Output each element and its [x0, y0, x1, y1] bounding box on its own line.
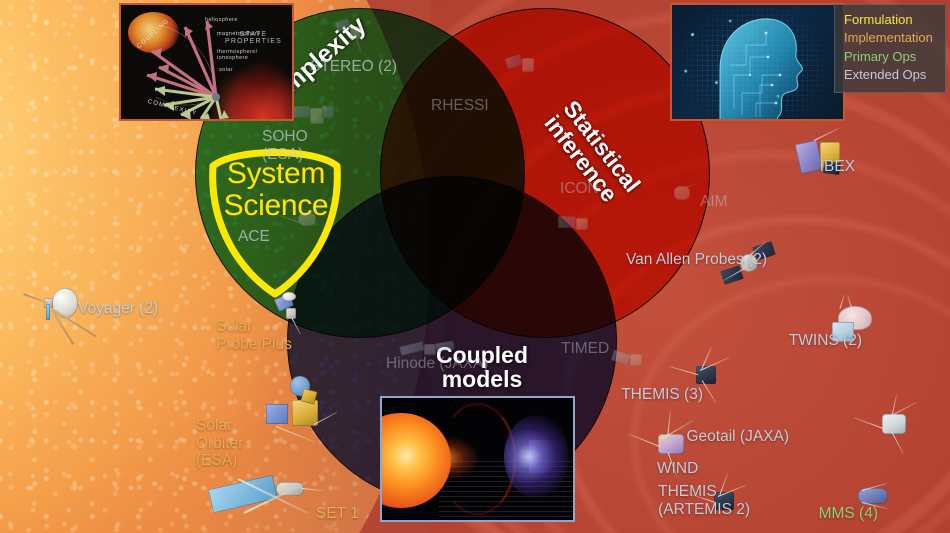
inset-node-ionosphere: thermosphere/ionosphere: [217, 49, 258, 61]
mission-label-themis: THEMIS (3): [621, 386, 703, 404]
mission-label-van-allen-probes: Van Allen Probes (2): [626, 251, 767, 269]
satellite-set-1: [210, 470, 322, 526]
satellite-ace: [282, 200, 330, 244]
mission-label-wind: WIND: [657, 460, 698, 478]
mission-label-themis-artemis: THEMIS (ARTEMIS 2): [658, 483, 750, 518]
mission-label-mms: MMS (4): [819, 505, 878, 523]
legend-item-primary-ops: Primary Ops: [844, 48, 938, 66]
inset-ai-digital-head: [670, 3, 845, 121]
mission-label-rhessi: RHESSI: [431, 97, 489, 115]
earth-magnetosphere: [504, 415, 569, 498]
mission-label-set-1: SET 1: [316, 505, 359, 523]
infographic-canvas: System Science Complexity Statistical in…: [0, 0, 950, 533]
legend-item-formulation: Formulation: [844, 11, 938, 29]
satellite-icon: [556, 206, 596, 246]
mission-label-voyager: Voyager (2): [78, 300, 158, 318]
satellite-timed: [610, 340, 652, 382]
system-science-label: System Science: [196, 158, 356, 221]
mission-label-geotail: Geotail (JAXA): [686, 428, 789, 446]
mission-label-twins: TWINS (2): [789, 332, 862, 350]
inset-sun-earth-coupling: [380, 396, 575, 522]
mission-label-ibex: IBEX: [820, 158, 855, 176]
ai-sparkle-dots: [672, 5, 843, 119]
satellite-solar-orbiter: [262, 376, 334, 442]
mission-label-soho: SOHO (ESA): [262, 128, 308, 163]
system-science-line2: Science: [196, 190, 356, 222]
status-legend: Formulation Implementation Primary Ops E…: [834, 4, 946, 93]
inset-caption-state-properties: STATEPROPERTIES: [225, 31, 282, 45]
inset-node-heliosphere: heliosphere: [205, 17, 238, 23]
inset-complexity-arrow-diagram: heliosphere magnetosphere thermosphere/i…: [119, 3, 294, 121]
legend-item-extended-ops: Extended Ops: [844, 66, 938, 84]
mission-label-stereo: STEREO (2): [310, 58, 397, 76]
mission-label-icon: ICON: [560, 180, 599, 198]
legend-item-implementation: Implementation: [844, 29, 938, 47]
satellite-rhessi: [506, 46, 544, 90]
bow-shock: [504, 415, 569, 498]
satellite-aim: [664, 176, 704, 216]
satellite-stereo: [336, 14, 370, 54]
mission-label-ace: ACE: [238, 228, 270, 246]
mission-label-hinode: Hinode (JAXA): [386, 355, 489, 373]
inset-node-solar: solar: [219, 67, 233, 73]
mission-label-solar-probe-plus: Solar Probe Plus: [216, 318, 292, 353]
mission-label-timed: TIMED: [561, 340, 609, 358]
mission-label-solar-orbiter: Solar Orbiter (ESA): [196, 417, 243, 470]
mission-label-aim: AIM: [700, 193, 728, 211]
satellite-geotail: [866, 404, 922, 456]
